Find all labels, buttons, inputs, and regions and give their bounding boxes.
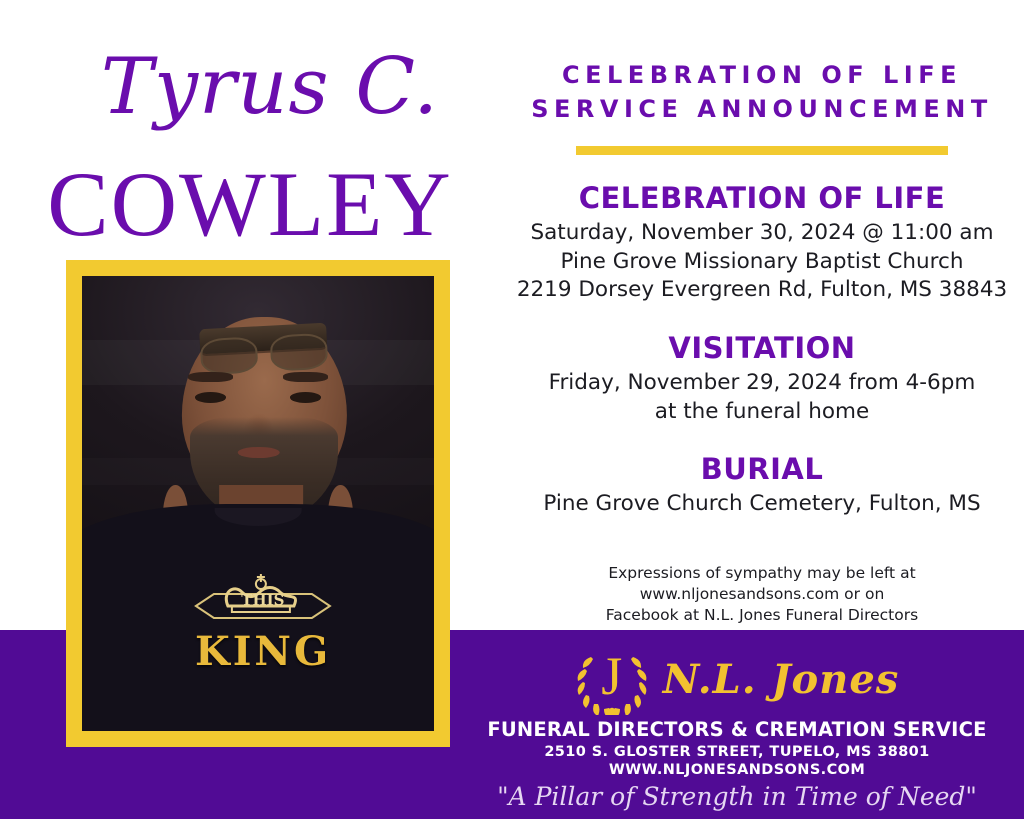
- visitation-title: VISITATION: [500, 331, 1024, 365]
- deceased-surname: COWLEY: [20, 158, 480, 250]
- crown-icon: THIS: [188, 572, 338, 634]
- deceased-first-name: Tyrus C.: [60, 48, 480, 126]
- burial-section: BURIAL Pine Grove Church Cemetery, Fulto…: [500, 452, 1024, 519]
- announcement-kicker: CELEBRATION OF LIFE SERVICE ANNOUNCEMENT: [500, 0, 1024, 126]
- celebration-section: CELEBRATION OF LIFE Saturday, November 3…: [500, 181, 1024, 305]
- brand-name-script: N.L. Jones: [663, 660, 900, 700]
- kicker-line-2: SERVICE ANNOUNCEMENT: [531, 95, 993, 123]
- celebration-title: CELEBRATION OF LIFE: [500, 181, 1024, 215]
- kicker-line-1: CELEBRATION OF LIFE: [562, 61, 962, 89]
- celebration-address: 2219 Dorsey Evergreen Rd, Fulton, MS 388…: [500, 276, 1024, 305]
- portrait-eyebrow-left: [188, 372, 234, 382]
- celebration-venue: Pine Grove Missionary Baptist Church: [500, 248, 1024, 277]
- sympathy-line-2: www.nljonesandsons.com or on: [552, 584, 972, 605]
- portrait-eye-right: [290, 392, 322, 403]
- laurel-wreath-icon: J: [575, 645, 649, 715]
- sympathy-note: Expressions of sympathy may be left at w…: [552, 563, 972, 626]
- eyeglasses-icon: [199, 323, 327, 355]
- footer-tagline: "A Pillar of Strength in Time of Need": [450, 784, 1024, 809]
- visitation-datetime: Friday, November 29, 2024 from 4-6pm: [500, 369, 1024, 398]
- sympathy-line-1: Expressions of sympathy may be left at: [552, 563, 972, 584]
- logo-letter-j: J: [575, 645, 649, 707]
- portrait-shirt: THIS KING: [82, 504, 434, 732]
- shirt-text-king: KING: [137, 628, 389, 675]
- footer-address-line: 2510 S. GLOSTER STREET, TUPELO, MS 38801: [450, 744, 1024, 760]
- shirt-text-this: THIS: [241, 591, 284, 609]
- footer-services-line: FUNERAL DIRECTORS & CREMATION SERVICE: [450, 718, 1024, 741]
- shirt-graphic: THIS KING: [137, 572, 389, 675]
- burial-location: Pine Grove Church Cemetery, Fulton, MS: [500, 490, 1024, 519]
- funeral-home-footer: J N.L. Jones FUNERAL DIRECTORS & CREMATI…: [450, 630, 1024, 819]
- portrait-photo: THIS KING: [82, 276, 434, 731]
- visitation-section: VISITATION Friday, November 29, 2024 fro…: [500, 331, 1024, 426]
- funeral-home-logo: J N.L. Jones: [450, 630, 1024, 716]
- footer-website-line: WWW.NLJONESANDSONS.COM: [450, 762, 1024, 778]
- celebration-datetime: Saturday, November 30, 2024 @ 11:00 am: [500, 219, 1024, 248]
- visitation-venue: at the funeral home: [500, 398, 1024, 427]
- portrait-mouth: [238, 447, 280, 459]
- sympathy-line-3: Facebook at N.L. Jones Funeral Directors: [552, 605, 972, 626]
- gold-divider: [576, 146, 948, 155]
- left-column: Tyrus C. COWLEY: [0, 0, 500, 819]
- announcement-details: CELEBRATION OF LIFE SERVICE ANNOUNCEMENT…: [500, 0, 1024, 630]
- burial-title: BURIAL: [500, 452, 1024, 486]
- portrait-shirt-collar: [215, 508, 302, 526]
- portrait-eye-left: [195, 392, 227, 403]
- portrait-photo-frame: THIS KING: [66, 260, 450, 747]
- memorial-announcement-poster: Tyrus C. COWLEY: [0, 0, 1024, 819]
- portrait-eyebrow-right: [283, 372, 329, 382]
